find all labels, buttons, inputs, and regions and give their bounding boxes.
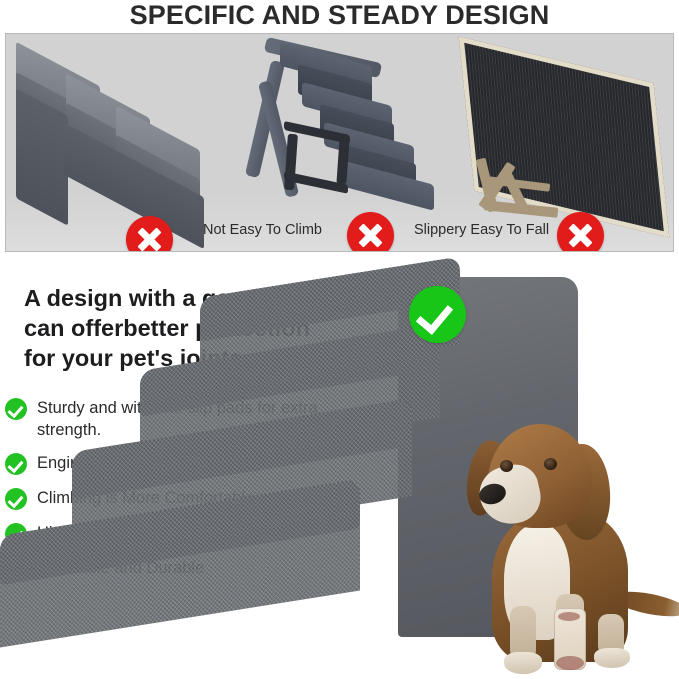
x-badge-product-3 — [557, 212, 604, 252]
page-title: SPECIFIC AND STEADY DESIGN — [0, 0, 679, 31]
infographic-page: SPECIFIC AND STEADY DESIGN Not Easy To C… — [0, 0, 679, 679]
bandage-stain-top — [558, 612, 580, 621]
beagle-dog — [452, 418, 679, 679]
dog-right-eye — [544, 458, 557, 470]
product-grey-foam-block-steps — [8, 50, 236, 240]
x-badge-product-2 — [347, 212, 394, 252]
dog-left-eye — [500, 460, 513, 472]
comparison-panel: Not Easy To Climb Slippery Easy To Fall — [5, 33, 674, 252]
dog-front-left-paw — [504, 652, 542, 674]
product-wooden-carpeted-ramp — [458, 52, 673, 237]
bandage-stain-bottom — [556, 656, 584, 670]
dog-hind-paw — [594, 648, 630, 668]
approved-check-badge — [409, 286, 466, 343]
product-plastic-folding-stairs — [254, 42, 454, 242]
